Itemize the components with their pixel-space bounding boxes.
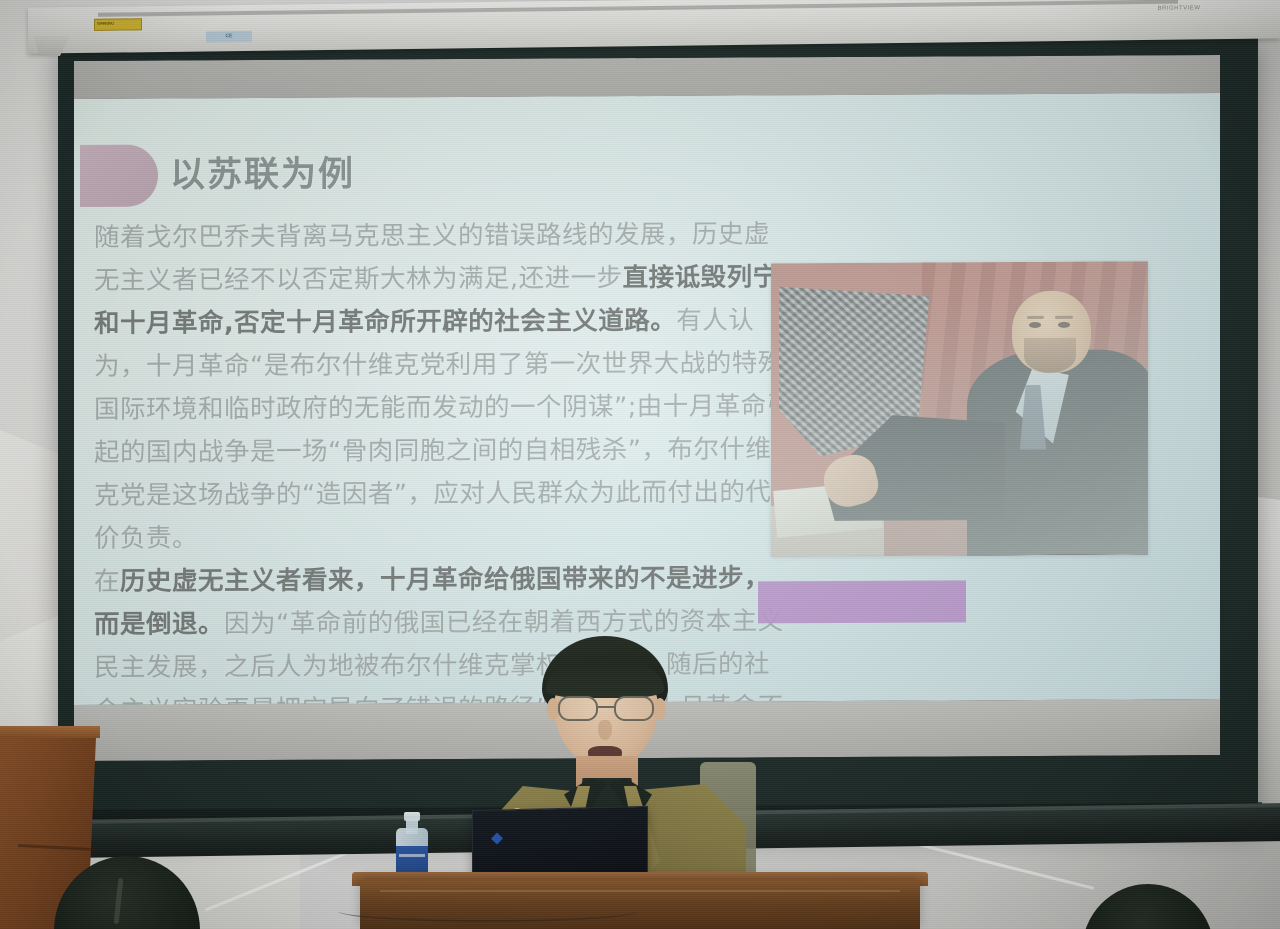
glasses-bridge (598, 706, 614, 708)
presentation-slide: 以苏联为例 随着戈尔巴乔夫背离马克思主义的错误路线的发展，历史虚无主义者已经不以… (74, 93, 1220, 705)
lecture-hall-scene: 以苏联为例 随着戈尔巴乔夫背离马克思主义的错误路线的发展，历史虚无主义者已经不以… (0, 0, 1280, 929)
purple-accent-band (758, 580, 966, 623)
laptop-logo-icon (491, 832, 503, 844)
projection-letterbox-top (74, 55, 1220, 99)
lenin-eyebrow-right (1055, 316, 1072, 320)
slide-body-text: 随着戈尔巴乔夫背离马克思主义的错误路线的发展，历史虚无主义者已经不以否定斯大林为… (94, 213, 794, 705)
slide-paragraph-1: 随着戈尔巴乔夫背离马克思主义的错误路线的发展，历史虚无主义者已经不以否定斯大林为… (94, 213, 794, 561)
presenter-glasses (556, 696, 656, 722)
glasses-lens-left (558, 696, 598, 721)
lenin-portrait-image (771, 261, 1148, 556)
certification-label: CE (206, 31, 252, 43)
slide-title: 以苏联为例 (170, 146, 355, 198)
slide-title-row: 以苏联为例 (74, 139, 1220, 207)
lenin-eyebrow-left (1027, 316, 1044, 320)
microphone-cable (338, 900, 638, 922)
warning-sticker: WARNING (94, 18, 142, 31)
text-run: 在 (94, 567, 120, 597)
presenter-nose (598, 720, 612, 740)
text-run: 有人认为，十月革命“是布尔什维克党利用了第一次世界大战的特殊国际环境和临时政府的… (94, 305, 793, 553)
bottle-label-stripe (399, 854, 425, 857)
lenin-eye-right (1058, 322, 1070, 328)
glasses-lens-right (614, 696, 654, 721)
lectern-top (0, 726, 100, 738)
bottle-label (396, 846, 428, 872)
title-accent-shape (80, 145, 158, 207)
table-grain (380, 890, 900, 892)
brand-label: BRIGHTVIEW (1136, 3, 1222, 14)
